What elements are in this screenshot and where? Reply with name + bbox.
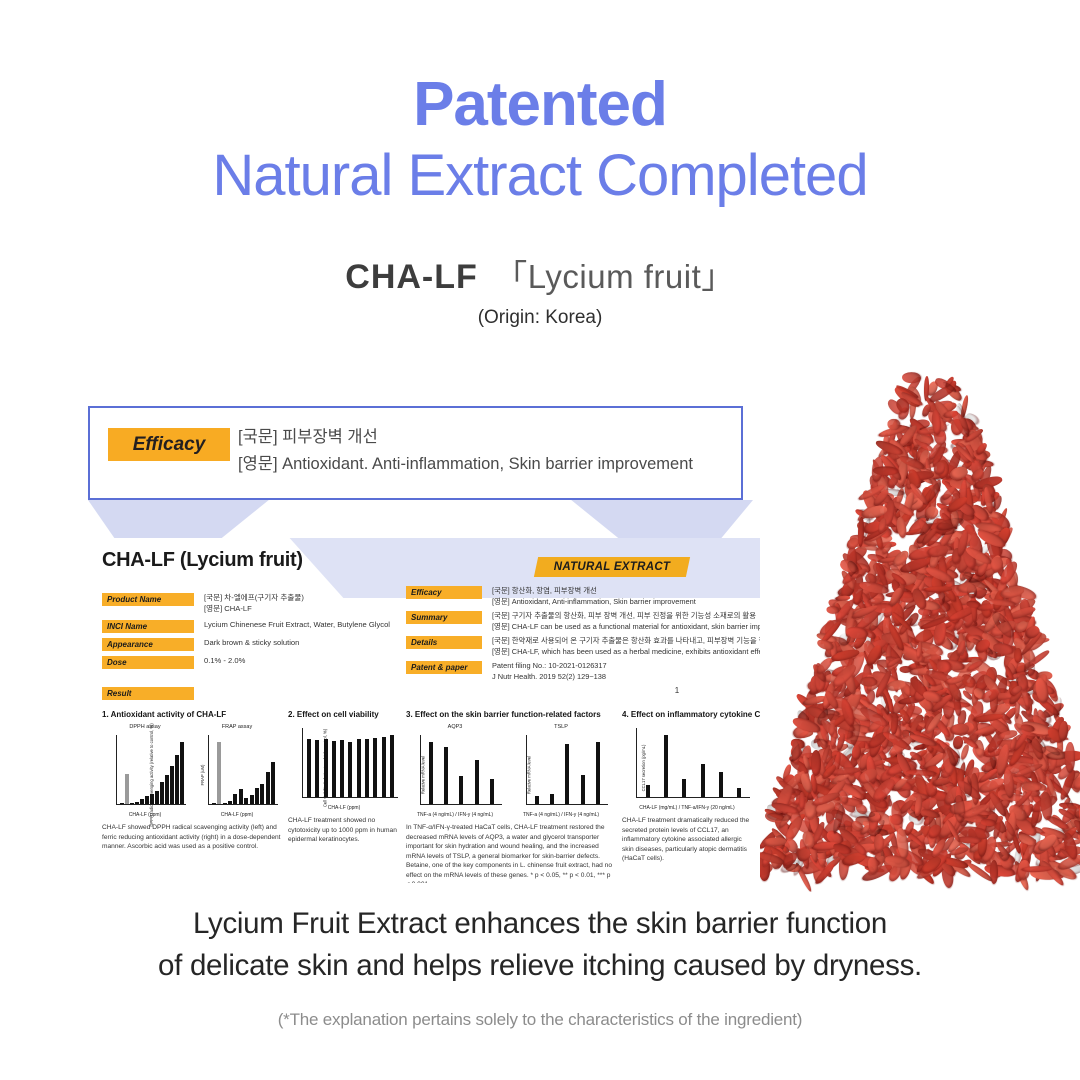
chart-bar xyxy=(719,772,723,797)
chart-bar xyxy=(180,742,184,804)
chart-bar xyxy=(365,739,369,797)
chart-bar xyxy=(125,774,129,804)
berry xyxy=(1065,742,1075,773)
chart-bar xyxy=(228,801,232,804)
ingredient-code: CHA-LF xyxy=(345,258,478,296)
spec-value: 0.1% - 2.0% xyxy=(204,656,245,669)
spec-table-left: Product Name [국문] 차-엘에프(구기자 추출물) [영문] CH… xyxy=(102,593,392,674)
chart-bar xyxy=(429,742,433,804)
chart-bar xyxy=(250,795,254,804)
spec-document: CHA-LF (Lycium fruit) NATURAL EXTRACT Pr… xyxy=(88,538,760,883)
spec-value: Lycium Chinenese Fruit Extract, Water, B… xyxy=(204,620,390,633)
chart-bar xyxy=(307,739,311,797)
chart-xlabel: CHA-LF (ppm) xyxy=(194,812,280,818)
chart-bar xyxy=(550,794,554,804)
chart-bar xyxy=(135,802,139,804)
chart-bar xyxy=(459,776,463,804)
berry xyxy=(799,792,805,810)
spec-value-line: [영문] Antioxidant, Anti-inflammation, Ski… xyxy=(492,597,750,608)
promo-page: Patented Natural Extract Completed CHA-L… xyxy=(0,0,1080,1080)
chart-bar xyxy=(150,794,154,804)
spec-value-line: [국문] 차-엘에프(구기자 추출물) xyxy=(204,593,304,604)
efficacy-line-kr: [국문] 피부장벽 개선 xyxy=(238,424,731,451)
chart-title: 3. Effect on the skin barrier function-r… xyxy=(406,710,616,719)
chart-xlabel: TNF-a (4 ng/mL) / IFN-y (4 ng/mL) xyxy=(512,812,610,818)
spec-value-line: Lycium Chinenese Fruit Extract, Water, B… xyxy=(204,620,390,631)
footer-line-2: of delicate skin and helps relieve itchi… xyxy=(0,945,1080,987)
chart-bar xyxy=(701,764,705,797)
chart-caption: CHA-LF treatment dramatically reduced th… xyxy=(622,816,752,864)
spec-value: Patent filing No.: 10-2021-0126317 J Nut… xyxy=(492,661,750,682)
chart-bar xyxy=(160,782,164,804)
efficacy-tag: Efficacy xyxy=(108,428,230,461)
ingredient-subtitle: CHA-LF 「Lycium fruit」 xyxy=(0,250,1080,298)
spec-value-line: Dark brown & sticky solution xyxy=(204,638,299,649)
chart-bar xyxy=(155,791,159,804)
chart-bar xyxy=(324,739,328,797)
spec-table-right: Efficacy [국문] 항산화, 항염, 피부장벽 개선 [영문] Anti… xyxy=(406,586,754,686)
spec-key: Appearance xyxy=(102,638,194,651)
chart-xlabel: CHA-LF (ppm) xyxy=(102,812,188,818)
spec-key: Details xyxy=(406,636,482,649)
chart-plot-dpph: DPPH radical scavenging activity (relati… xyxy=(102,731,188,819)
chart-group-1: 1. Antioxidant activity of CHA-LF DPPH a… xyxy=(102,710,282,852)
chart-bar xyxy=(581,775,585,804)
spec-key: Summary xyxy=(406,611,482,624)
chart-bar xyxy=(271,762,275,804)
chart-bar xyxy=(373,738,377,797)
charts-strip: 1. Antioxidant activity of CHA-LF DPPH a… xyxy=(98,710,753,878)
berry xyxy=(887,418,901,430)
spec-key: Dose xyxy=(102,656,194,669)
spec-value: [국문] 차-엘에프(구기자 추출물) [영문] CHA-LF xyxy=(204,593,304,615)
chart-ylabel: FRAP (uM) xyxy=(200,765,205,786)
natural-extract-badge-label: NATURAL EXTRACT xyxy=(536,557,688,577)
chart-bar xyxy=(390,735,394,797)
chart-bar xyxy=(565,744,569,804)
spec-key: INCI Name xyxy=(102,620,194,633)
document-page-number: 1 xyxy=(612,686,742,695)
berry xyxy=(1024,662,1035,676)
chart-bar xyxy=(682,779,686,797)
chart-bar xyxy=(223,803,227,804)
spec-value-line: J Nutr Health. 2019 52(2) 129~138 xyxy=(492,672,750,683)
chart-bar xyxy=(535,796,539,804)
spec-key: Product Name xyxy=(102,593,194,606)
chart-bar xyxy=(664,735,668,797)
chart-title: 4. Effect on inflammatory cytokine CCL17 xyxy=(622,710,752,719)
chart-caption: CHA-LF treatment showed no cytotoxicity … xyxy=(288,816,400,845)
chart-bar xyxy=(217,742,221,804)
chart-bar xyxy=(165,775,169,804)
efficacy-line-en: [영문] Antioxidant. Anti-inflammation, Ski… xyxy=(238,451,731,478)
spec-value: [국문] 항산화, 항염, 피부장벽 개선 [영문] Antioxidant, … xyxy=(492,586,750,607)
spec-value-line: [국문] 항산화, 항염, 피부장벽 개선 xyxy=(492,586,750,597)
spec-value-line: [영문] CHA-LF xyxy=(204,604,304,615)
chart-group-3: 3. Effect on the skin barrier function-r… xyxy=(406,710,616,883)
chart-bar xyxy=(340,740,344,797)
spec-value: [국문] 구기자 추출물의 항산화, 피부 장벽 개선, 피부 진정을 위한 기… xyxy=(492,611,750,632)
efficacy-box: Efficacy [국문] 피부장벽 개선 [영문] Antioxidant. … xyxy=(88,406,743,500)
chart-bar xyxy=(357,739,361,797)
spec-value: Dark brown & sticky solution xyxy=(204,638,299,651)
table-row: Details [국문] 한약재로 사용되어 온 구기자 추출물은 항산화 효과… xyxy=(406,636,754,657)
chart-caption: In TNF-α/IFN-γ-treated HaCaT cells, CHA-… xyxy=(406,823,616,883)
berry xyxy=(949,748,960,766)
table-row: Patent & paper Patent filing No.: 10-202… xyxy=(406,661,754,682)
title-line-2: Natural Extract Completed xyxy=(0,142,1080,210)
spec-value-line: [국문] 한약재로 사용되어 온 구기자 추출물은 항산화 효과를 나타내고, … xyxy=(492,636,750,647)
chart-subtitle: TSLP xyxy=(512,724,610,730)
chart-bar xyxy=(596,742,600,804)
chart-subtitle: FRAP assay xyxy=(194,724,280,730)
berry xyxy=(810,739,828,751)
chart-bar xyxy=(332,741,336,797)
chart-bar xyxy=(266,772,270,804)
chart-bar xyxy=(255,788,259,804)
chart-plot-aqp3: Relative mRNA level TNF-a (4 ng/mL) / IF… xyxy=(406,731,504,819)
table-row: Dose 0.1% - 2.0% xyxy=(102,656,392,669)
chart-bar xyxy=(239,789,243,804)
berry xyxy=(963,775,972,797)
berry xyxy=(874,834,884,852)
chart-bar xyxy=(382,737,386,797)
footer-line-1: Lycium Fruit Extract enhances the skin b… xyxy=(0,903,1080,945)
chart-bar xyxy=(170,766,174,804)
chart-bar xyxy=(145,796,149,804)
chart-plot-tslp: Relative mRNA level TNF-a (4 ng/mL) / IF… xyxy=(512,731,610,819)
chart-plot-ccl17: CCL17 secretion (pg/mL) CHA-LF (mg/mL) /… xyxy=(622,724,752,812)
chart-bar xyxy=(244,798,248,804)
chart-plot-viability: Cell viability (relative to vehicle cont… xyxy=(288,724,400,812)
chart-bar xyxy=(260,784,264,804)
natural-extract-badge: NATURAL EXTRACT xyxy=(534,557,690,577)
chart-group-4: 4. Effect on inflammatory cytokine CCL17… xyxy=(622,710,752,864)
spec-value-line: [국문] 구기자 추출물의 항산화, 피부 장벽 개선, 피부 진정을 위한 기… xyxy=(492,611,750,622)
title-line-1: Patented xyxy=(0,74,1080,136)
chart-bar xyxy=(348,742,352,797)
chart-bar xyxy=(233,794,237,804)
chart-bar xyxy=(490,779,494,804)
chart-plot-frap: FRAP (uM) CHA-LF (ppm) xyxy=(194,731,280,819)
chart-xlabel: TNF-a (4 ng/mL) / IFN-y (4 ng/mL) xyxy=(406,812,504,818)
origin-label: (Origin: Korea) xyxy=(0,307,1080,329)
spec-key: Efficacy xyxy=(406,586,482,599)
spec-value-line: [영문] CHA-LF can be used as a functional … xyxy=(492,622,750,633)
chart-bar xyxy=(475,760,479,804)
table-row: Summary [국문] 구기자 추출물의 항산화, 피부 장벽 개선, 피부 … xyxy=(406,611,754,632)
chart-bar xyxy=(646,785,650,797)
chart-title: 1. Antioxidant activity of CHA-LF xyxy=(102,710,282,719)
efficacy-text: [국문] 피부장벽 개선 [영문] Antioxidant. Anti-infl… xyxy=(238,424,731,478)
spec-value-line: [영문] CHA-LF, which has been used as a he… xyxy=(492,647,750,658)
chart-bar xyxy=(315,740,319,797)
footer-copy: Lycium Fruit Extract enhances the skin b… xyxy=(0,903,1080,987)
table-row: INCI Name Lycium Chinenese Fruit Extract… xyxy=(102,620,392,633)
footer-disclaimer: (*The explanation pertains solely to the… xyxy=(0,1010,1080,1030)
goji-berries-image xyxy=(760,352,1080,892)
table-row: Appearance Dark brown & sticky solution xyxy=(102,638,392,651)
chart-bar xyxy=(140,799,144,804)
document-title: CHA-LF (Lycium fruit) xyxy=(102,549,303,572)
chart-bar xyxy=(120,803,124,804)
berry xyxy=(902,371,921,383)
spec-value: [국문] 한약재로 사용되어 온 구기자 추출물은 항산화 효과를 나타내고, … xyxy=(492,636,750,657)
chart-bar xyxy=(737,788,741,797)
chart-subtitle: DPPH assay xyxy=(102,724,188,730)
chart-bar xyxy=(212,803,216,804)
ingredient-name: 「Lycium fruit」 xyxy=(494,258,734,295)
table-row: Product Name [국문] 차-엘에프(구기자 추출물) [영문] CH… xyxy=(102,593,392,615)
spec-value-line: Patent filing No.: 10-2021-0126317 xyxy=(492,661,750,672)
chart-bar xyxy=(175,755,179,804)
chart-caption: CHA-LF showed DPPH radical scavenging ac… xyxy=(102,823,282,852)
chart-xlabel: CHA-LF (mg/mL) / TNF-a/IFN-y (20 ng/mL) xyxy=(622,805,752,811)
table-row: Efficacy [국문] 항산화, 항염, 피부장벽 개선 [영문] Anti… xyxy=(406,586,754,607)
chart-title: 2. Effect on cell viability xyxy=(288,710,400,719)
spec-key: Patent & paper xyxy=(406,661,482,674)
result-tag: Result xyxy=(102,687,194,700)
page-title: Patented Natural Extract Completed xyxy=(0,74,1080,210)
chart-group-2: 2. Effect on cell viability Cell viabili… xyxy=(288,710,400,845)
chart-bar xyxy=(130,803,134,804)
chart-bar xyxy=(444,747,448,804)
chart-xlabel: CHA-LF (ppm) xyxy=(288,805,400,811)
chart-subtitle: AQP3 xyxy=(406,724,504,730)
berry xyxy=(1014,648,1022,663)
spec-value-line: 0.1% - 2.0% xyxy=(204,656,245,667)
efficacy-tag-label: Efficacy xyxy=(133,434,206,456)
